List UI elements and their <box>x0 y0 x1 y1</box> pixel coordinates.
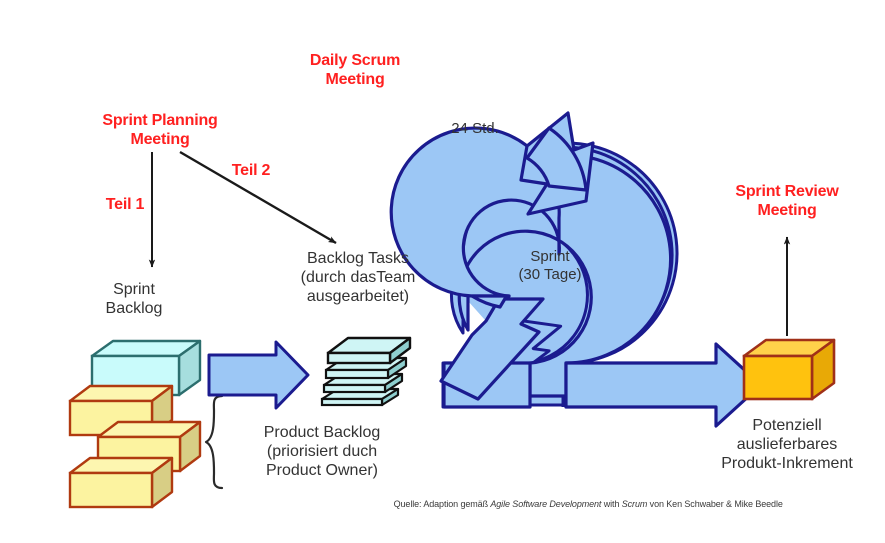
caption-prefix: Quelle: Adaption gemäß <box>394 499 491 509</box>
scrum-process-diagram: Sprint Planning Meeting Teil 1 Teil 2 Da… <box>0 0 885 543</box>
caption-mid: with <box>601 499 621 509</box>
source-caption: Quelle: Adaption gemäß Agile Software De… <box>384 489 783 519</box>
daily-scrum-meeting-label: Daily Scrum Meeting <box>285 52 425 90</box>
product-backlog-label: Product Backlog (priorisiert duch Produc… <box>229 424 415 481</box>
caption-suffix: von Ken Schwaber & Mike Beedle <box>647 499 782 509</box>
sprint-planning-meeting-label: Sprint Planning Meeting <box>85 112 235 150</box>
daily-cycle-duration-label: 24 Std. <box>420 120 530 138</box>
backlog-tasks-label: Backlog Tasks (durch dasTeam ausgearbeit… <box>272 250 444 307</box>
caption-book-title-2: Scrum <box>622 499 648 509</box>
teil-1-label: Teil 1 <box>92 196 158 215</box>
sprint-backlog-label: Sprint Backlog <box>78 281 190 319</box>
product-backlog-brace <box>206 396 222 488</box>
teil-2-label: Teil 2 <box>218 162 284 181</box>
backlog-to-tasks-arrow <box>209 342 308 408</box>
potential-increment-label: Potenziell auslieferbares Produkt-Inkrem… <box>694 417 880 474</box>
backlog-tasks-paper-stack <box>322 338 410 405</box>
sprint-review-meeting-label: Sprint Review Meeting <box>716 183 858 221</box>
sprint-duration-label: Sprint (30 Tage) <box>495 248 605 283</box>
product-backlog-cube-bottom <box>70 458 172 507</box>
caption-book-title-1: Agile Software Development <box>490 499 601 509</box>
